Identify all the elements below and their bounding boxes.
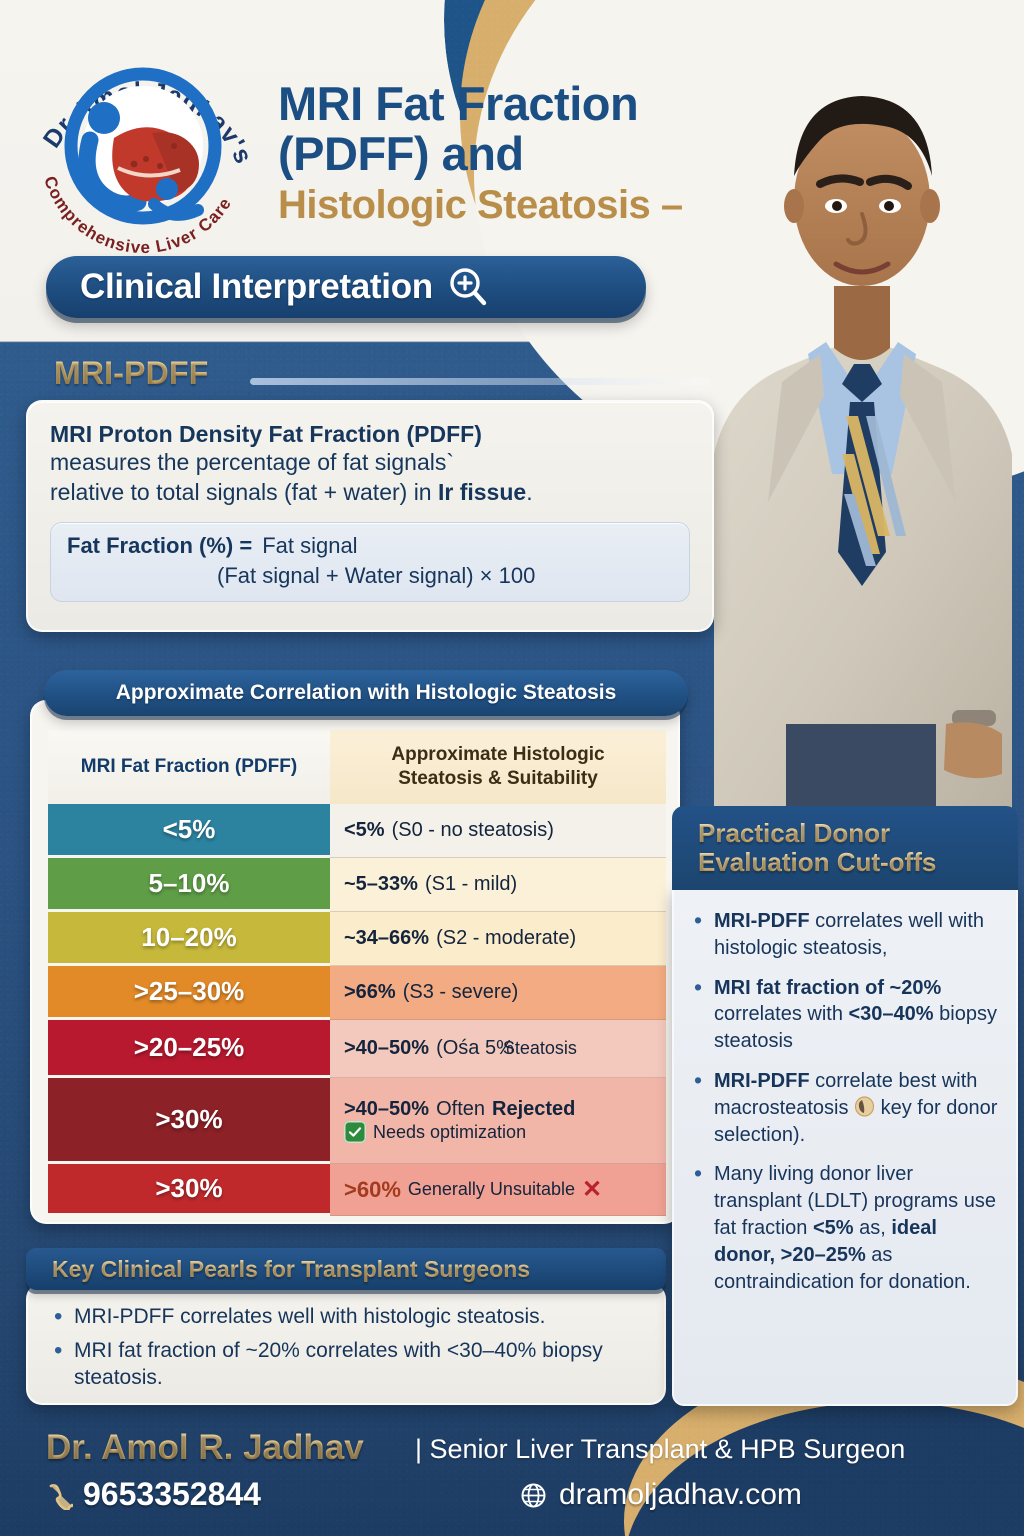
footer-website[interactable]: dramoljadhav.com [520, 1478, 802, 1512]
table-cell-histologic-steatosis: <5% (S0 - no steatosis) [330, 804, 666, 858]
list-item-emphasis: <5% [813, 1217, 854, 1239]
table-cell-value: >60% [344, 1177, 401, 1203]
title-line-1: MRI Fat Fraction [278, 80, 718, 128]
table-cell-text: (S1 - mild) [425, 873, 517, 896]
pdff-body-line-1: measures the percentage of fat signals` [50, 448, 690, 478]
poster-header: Dr Amol Jadhav's Comprehensive Liver Car… [0, 0, 1024, 345]
table-cell-line: ~5–33% (S1 - mild) [344, 873, 666, 896]
donor-cutoffs-list: MRI-PDFF correlates well with histologic… [690, 908, 1002, 1295]
table-cell-histologic-steatosis: >60% Generally Unsuitable✕ [330, 1164, 666, 1216]
table-cell-pdff-range: 5–10% [48, 858, 330, 912]
infographic-poster: Dr Amol Jadhav's Comprehensive Liver Car… [0, 0, 1024, 1536]
table-cell-text: (S3 - severe) [403, 981, 519, 1004]
table-cell-histologic-steatosis: ~5–33% (S1 - mild) [330, 858, 666, 912]
table-cell-value: ~5–33% [344, 873, 418, 896]
table-cell-value: ~34–66% [344, 927, 429, 950]
table-header-col1: MRI Fat Fraction (PDFF) [48, 730, 330, 804]
table-cell-histologic-steatosis: >40–50% Often RejectedNeeds optimization [330, 1078, 666, 1164]
correlation-table-banner-label: Approximate Correlation with Histologic … [116, 681, 617, 705]
phone-icon [46, 1481, 73, 1508]
fat-fraction-formula-box: Fat Fraction (%) = Fat signal (Fat signa… [50, 522, 690, 602]
list-item: MRI-PDFF correlates well with histologic… [48, 1303, 644, 1331]
footer-phone[interactable]: 9653352844 [46, 1476, 261, 1513]
list-item-emphasis: MRI-PDFF [714, 1070, 810, 1092]
table-cell-text: Generally Unsuitable [408, 1179, 575, 1200]
table-cell-text: (S2 - moderate) [436, 927, 576, 950]
table-cell-pdff-range: <5% [48, 804, 330, 858]
pdff-definition-card: MRI Proton Density Fat Fraction (PDFF) m… [26, 400, 714, 632]
clinical-interpretation-ribbon: Clinical Interpretation [46, 256, 646, 318]
pdff-body-line-2: relative to total signals (fat + water) … [50, 478, 690, 508]
pdff-body-post: . [526, 479, 532, 505]
title-block: MRI Fat Fraction (PDFF) and Histologic S… [278, 80, 718, 226]
table-cell-text: (S0 - no steatosis) [392, 819, 554, 842]
list-item-text: as, [854, 1217, 892, 1239]
cross-icon: ✕ [582, 1178, 602, 1202]
list-item-emphasis: MRI-PDFF [714, 910, 810, 932]
table-row: 10–20%~34–66% (S2 - moderate) [48, 912, 666, 966]
table-cell-value: >40–50% [344, 1098, 429, 1121]
table-cell-line: Needs optimization [344, 1121, 666, 1143]
table-cell-value: <5% [344, 819, 385, 842]
list-item-emphasis: <30–40% [849, 1003, 934, 1025]
table-cell-pdff-range: >20–25% [48, 1020, 330, 1078]
donor-banner-line2: Evaluation Cut-offs [698, 848, 1018, 877]
clinical-pearls-banner: Key Clinical Pearls for Transplant Surge… [26, 1248, 666, 1290]
pdff-body-pre: relative to total signals (fat + water) … [50, 479, 438, 505]
ribbon-label: Clinical Interpretation [80, 267, 433, 307]
doctor-portrait-photo [694, 24, 1024, 814]
table-cell-line: >66% (S3 - severe) [344, 981, 666, 1004]
pdff-lead-bold: MRI Proton Density Fat Fraction (PDFF) [50, 420, 690, 448]
table-row: >30%>40–50% Often RejectedNeeds optimiza… [48, 1078, 666, 1164]
table-cell-histologic-steatosis: >66% (S3 - severe) [330, 966, 666, 1020]
list-item: MRI-PDFF correlate best with macrosteato… [690, 1068, 1002, 1148]
table-row: 5–10%~5–33% (S1 - mild) [48, 858, 666, 912]
table-cell-pdff-range: >25–30% [48, 966, 330, 1020]
poster-footer: Dr. Amol R. Jadhav | Senior Liver Transp… [0, 1414, 1024, 1536]
table-cell-line: >40–50% Often Rejected [344, 1098, 666, 1121]
footer-website-url: dramoljadhav.com [559, 1478, 802, 1512]
correlation-table-card: MRI Fat Fraction (PDFF) Approximate Hist… [30, 700, 680, 1224]
table-cell-value: >66% [344, 981, 396, 1004]
donor-cutoffs-card: MRI-PDFF correlates well with histologic… [672, 888, 1018, 1406]
table-row: >25–30%>66% (S3 - severe) [48, 966, 666, 1020]
table-cell-histologic-steatosis: ~34–66% (S2 - moderate) [330, 912, 666, 966]
clinical-pearls-banner-label: Key Clinical Pearls for Transplant Surge… [52, 1256, 530, 1283]
table-cell-pdff-range: 10–20% [48, 912, 330, 966]
footer-doctor-role: | Senior Liver Transplant & HPB Surgeon [415, 1434, 905, 1465]
clinical-pearls-list: MRI-PDFF correlates well with histologic… [48, 1303, 644, 1392]
table-header-col2: Approximate Histologic Steatosis & Suita… [330, 730, 666, 804]
formula-numerator: Fat signal [262, 533, 357, 559]
table-cell-line: >60% Generally Unsuitable✕ [344, 1177, 666, 1203]
correlation-table: MRI Fat Fraction (PDFF) Approximate Hist… [48, 730, 666, 1216]
liver-icon [854, 1096, 875, 1117]
table-cell-line: >40–50% (Ośa 5%Steatosis [344, 1037, 666, 1060]
table-cell-value: >40–50% [344, 1037, 429, 1060]
footer-phone-number: 9653352844 [83, 1476, 261, 1513]
table-cell-pdff-range: >30% [48, 1078, 330, 1164]
table-cell-text: Needs optimization [373, 1122, 526, 1143]
list-item: Many living donor liver transplant (LDLT… [690, 1161, 1002, 1295]
table-header-col2-line2: Steatosis & Suitability [398, 767, 598, 791]
correlation-table-banner: Approximate Correlation with Histologic … [44, 670, 688, 716]
title-line-2: (PDFF) and [278, 130, 718, 178]
pdff-body-bold: Ir fissue [438, 479, 526, 505]
table-row: <5%<5% (S0 - no steatosis) [48, 804, 666, 858]
table-row: >20–25%>40–50% (Ośa 5%Steatosis [48, 1020, 666, 1078]
list-item: MRI-PDFF correlates well with histologic… [690, 908, 1002, 962]
table-cell-text: Often [436, 1098, 485, 1121]
donor-banner-line1: Practical Donor [698, 819, 1018, 848]
clinical-pearls-card: MRI-PDFF correlates well with histologic… [26, 1283, 666, 1405]
checkmark-icon [344, 1121, 366, 1143]
footer-doctor-name: Dr. Amol R. Jadhav [46, 1428, 364, 1468]
donor-cutoffs-banner: Practical Donor Evaluation Cut-offs [672, 806, 1018, 890]
table-cell-line: <5% (S0 - no steatosis) [344, 819, 666, 842]
list-item: MRI fat fraction of ~20% correlates with… [48, 1337, 644, 1392]
table-cell-line: ~34–66% (S2 - moderate) [344, 927, 666, 950]
list-item: MRI fat fraction of ~20% correlates with… [690, 975, 1002, 1055]
list-item-text: correlates with [714, 1003, 849, 1025]
formula-denominator: (Fat signal + Water signal) × 100 [217, 563, 673, 589]
table-cell-emphasis: Rejected [492, 1098, 575, 1121]
title-line-3: Histologic Steatosis – [278, 185, 718, 226]
table-cell-text: (Ośa 5% [436, 1037, 514, 1060]
globe-icon [520, 1482, 547, 1509]
table-header-col2-line1: Approximate Histologic [391, 743, 604, 767]
brand-logo: Dr Amol Jadhav's Comprehensive Liver Car… [18, 18, 268, 268]
list-item-emphasis: MRI fat fraction of ~20% [714, 977, 941, 999]
magnifier-plus-icon [447, 266, 489, 308]
table-body: <5%<5% (S0 - no steatosis)5–10%~5–33% (S… [48, 804, 666, 1216]
section-rule [250, 378, 710, 385]
table-cell-pdff-range: >30% [48, 1164, 330, 1216]
table-row: >30%>60% Generally Unsuitable✕ [48, 1164, 666, 1216]
formula-left-side: Fat Fraction (%) = [67, 533, 252, 559]
section-heading-mri-pdff: MRI-PDFF [54, 355, 208, 392]
table-cell-histologic-steatosis: >40–50% (Ośa 5%Steatosis [330, 1020, 666, 1078]
table-header-row: MRI Fat Fraction (PDFF) Approximate Hist… [48, 730, 666, 804]
